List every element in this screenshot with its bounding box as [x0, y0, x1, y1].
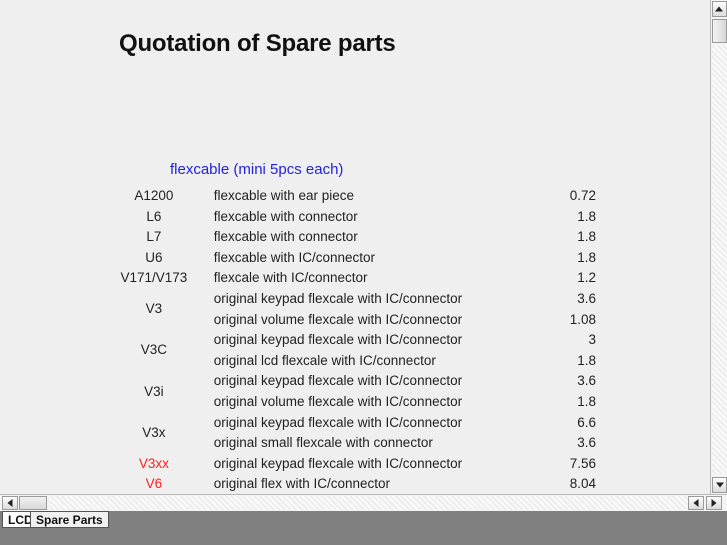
table-row[interactable]: V6 original flex with IC/connector 8.04: [110, 474, 602, 494]
cell-part-code: L6: [110, 207, 198, 228]
horizontal-scrollbar-thumb[interactable]: [19, 496, 47, 510]
cell-description: original flex with IC/connector: [198, 474, 509, 494]
cell-description: original lcd flexcale with IC/connector: [198, 351, 509, 372]
vertical-scrollbar[interactable]: [710, 0, 727, 494]
table-row[interactable]: L6 flexcable with connector 1.8: [110, 207, 602, 228]
cell-part-code: V3i: [110, 371, 198, 412]
cell-price: 7.56: [509, 454, 602, 475]
cell-description: original small flexcale with connector: [198, 433, 509, 454]
cell-price: 1.08: [509, 310, 602, 331]
cell-description: original keypad flexcale with IC/connect…: [198, 289, 509, 310]
table-row[interactable]: V3C original keypad flexcale with IC/con…: [110, 330, 602, 351]
section-header-flexcable: flexcable (mini 5pcs each): [170, 161, 343, 178]
scroll-right-button[interactable]: [706, 496, 722, 510]
sheet-tab-bar: LCD Spare Parts: [0, 511, 727, 545]
cell-price: 1.8: [509, 207, 602, 228]
quotation-table-body: A1200 flexcable with ear piece 0.72 L6 f…: [110, 186, 602, 494]
cell-description: flexcable with connector: [198, 227, 509, 248]
cell-price: 0.72: [509, 186, 602, 207]
cell-price: 3.6: [509, 433, 602, 454]
cell-part-code: U6: [110, 248, 198, 269]
cell-description: flexcable with IC/connector: [198, 248, 509, 269]
cell-part-code: V171/V173: [110, 268, 198, 289]
cell-price: 3: [509, 330, 602, 351]
cell-description: flexcale with IC/connector: [198, 268, 509, 289]
cell-description: flexcable with ear piece: [198, 186, 509, 207]
triangle-left-icon: [694, 499, 699, 507]
cell-price: 1.8: [509, 227, 602, 248]
cell-description: original volume flexcale with IC/connect…: [198, 392, 509, 413]
table-row[interactable]: V3i original keypad flexcale with IC/con…: [110, 371, 602, 392]
cell-part-code: V3C: [110, 330, 198, 371]
cell-price: 8.04: [509, 474, 602, 494]
horizontal-scrollbar-track[interactable]: [49, 496, 687, 510]
table-row[interactable]: V3 original keypad flexcale with IC/conn…: [110, 289, 602, 310]
triangle-up-icon: [715, 7, 723, 12]
table-row[interactable]: V3xx original keypad flexcale with IC/co…: [110, 454, 602, 475]
triangle-down-icon: [716, 483, 724, 488]
cell-price: 3.6: [509, 289, 602, 310]
table-row[interactable]: A1200 flexcable with ear piece 0.72: [110, 186, 602, 207]
cell-part-code: V6: [110, 474, 198, 494]
cell-part-code: V3xx: [110, 454, 198, 475]
cell-part-code: V3x: [110, 413, 198, 454]
triangle-right-icon: [712, 499, 717, 507]
table-row[interactable]: U6 flexcable with IC/connector 1.8: [110, 248, 602, 269]
cell-description: original keypad flexcale with IC/connect…: [198, 454, 509, 475]
scroll-left-button[interactable]: [2, 496, 18, 510]
horizontal-scrollbar[interactable]: [0, 494, 727, 511]
cell-description: original volume flexcale with IC/connect…: [198, 310, 509, 331]
vertical-scrollbar-thumb[interactable]: [712, 19, 727, 43]
quotation-table: A1200 flexcable with ear piece 0.72 L6 f…: [110, 186, 602, 494]
cell-price: 1.2: [509, 268, 602, 289]
cell-description: original keypad flexcale with IC/connect…: [198, 371, 509, 392]
table-row[interactable]: V3x original keypad flexcale with IC/con…: [110, 413, 602, 434]
sheet-canvas[interactable]: Quotation of Spare parts flexcable (mini…: [0, 0, 710, 494]
cell-price: 1.8: [509, 351, 602, 372]
cell-description: original keypad flexcale with IC/connect…: [198, 330, 509, 351]
scroll-down-button[interactable]: [712, 477, 727, 493]
table-row[interactable]: V171/V173 flexcale with IC/connector 1.2: [110, 268, 602, 289]
cell-price: 3.6: [509, 371, 602, 392]
scroll-up-button[interactable]: [712, 1, 727, 17]
cell-description: original keypad flexcale with IC/connect…: [198, 413, 509, 434]
spreadsheet-window: Quotation of Spare parts flexcable (mini…: [0, 0, 727, 545]
cell-part-code: L7: [110, 227, 198, 248]
scroll-left-button-right-group[interactable]: [688, 496, 704, 510]
page-title: Quotation of Spare parts: [119, 30, 396, 58]
cell-price: 6.6: [509, 413, 602, 434]
triangle-left-icon: [8, 499, 13, 507]
cell-description: flexcable with connector: [198, 207, 509, 228]
cell-price: 1.8: [509, 248, 602, 269]
cell-part-code: V3: [110, 289, 198, 330]
cell-part-code: A1200: [110, 186, 198, 207]
vertical-scrollbar-track[interactable]: [712, 45, 727, 474]
tab-spare-parts[interactable]: Spare Parts: [30, 511, 109, 528]
cell-price: 1.8: [509, 392, 602, 413]
table-row[interactable]: L7 flexcable with connector 1.8: [110, 227, 602, 248]
